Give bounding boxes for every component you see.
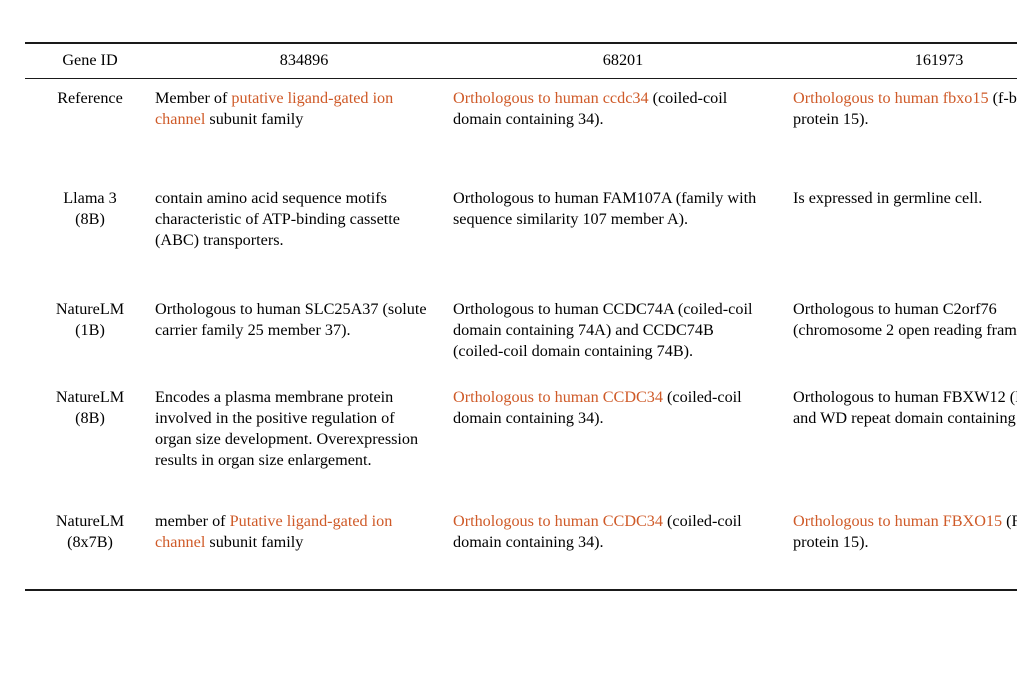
plain-text: Orthologous to human SLC25A37 (solute ca… (155, 300, 427, 339)
row-label-naturelm-8b: NatureLM(8B) (25, 378, 155, 502)
row-label-naturelm-8x7b: NatureLM(8x7B) (25, 502, 155, 589)
table-row: NatureLM(8B)Encodes a plasma membrane pr… (25, 378, 1017, 502)
plain-text: Is expressed in germline cell. (793, 189, 982, 207)
table-body: ReferenceMember of putative ligand-gated… (25, 79, 1017, 589)
table-bottom-rule (25, 589, 1017, 591)
cell-naturelm-1b-gene-2: Orthologous to human CCDC74A (coiled-coi… (453, 290, 793, 378)
cell-naturelm-8b-gene-2: Orthologous to human CCDC34 (coiled-coil… (453, 378, 793, 502)
plain-text: subunit family (205, 533, 303, 551)
plain-text: member of (155, 512, 230, 530)
gene-description-table: Gene ID 834896 68201 161973 ReferenceMem… (25, 42, 1017, 591)
plain-text: Orthologous to human FBXW12 (F-box and W… (793, 388, 1017, 427)
page-root: Gene ID 834896 68201 161973 ReferenceMem… (0, 0, 1017, 683)
row-label-secondary: (8B) (25, 408, 155, 429)
row-label-reference: Reference (25, 79, 155, 179)
row-label-primary: Reference (25, 88, 155, 109)
row-label-secondary: (8B) (25, 209, 155, 230)
column-header-gene-1: 834896 (155, 44, 453, 78)
table-row: NatureLM(1B)Orthologous to human SLC25A3… (25, 290, 1017, 378)
cell-naturelm-8x7b-gene-2: Orthologous to human CCDC34 (coiled-coil… (453, 502, 793, 589)
cell-reference-gene-2: Orthologous to human ccdc34 (coiled-coil… (453, 79, 793, 179)
comparison-table: Gene ID 834896 68201 161973 (25, 44, 1017, 78)
row-label-secondary: (1B) (25, 320, 155, 341)
row-label-naturelm-1b: NatureLM(1B) (25, 290, 155, 378)
column-header-gene-id: Gene ID (25, 44, 155, 78)
row-label-secondary: (8x7B) (25, 532, 155, 553)
row-label-primary: NatureLM (25, 299, 155, 320)
highlighted-text: Orthologous to human ccdc34 (453, 89, 649, 107)
table-row: NatureLM(8x7B)member of Putative ligand-… (25, 502, 1017, 589)
column-header-gene-3: 161973 (793, 44, 1017, 78)
plain-text: subunit family (205, 110, 303, 128)
highlighted-text: Orthologous to human fbxo15 (793, 89, 989, 107)
plain-text: Member of (155, 89, 231, 107)
table-row: Llama 3(8B)contain amino acid sequence m… (25, 179, 1017, 290)
cell-llama3-8b-gene-2: Orthologous to human FAM107A (family wit… (453, 179, 793, 290)
highlighted-text: Orthologous to human CCDC34 (453, 512, 663, 530)
cell-naturelm-8b-gene-3: Orthologous to human FBXW12 (F-box and W… (793, 378, 1017, 502)
plain-text: Encodes a plasma membrane protein involv… (155, 388, 418, 469)
plain-text: Orthologous to human CCDC74A (coiled-coi… (453, 300, 752, 360)
header-row: Gene ID 834896 68201 161973 (25, 44, 1017, 78)
cell-naturelm-1b-gene-3: Orthologous to human C2orf76 (chromosome… (793, 290, 1017, 378)
comparison-table-body: ReferenceMember of putative ligand-gated… (25, 79, 1017, 589)
cell-naturelm-8b-gene-1: Encodes a plasma membrane protein involv… (155, 378, 453, 502)
highlighted-text: Orthologous to human CCDC34 (453, 388, 663, 406)
plain-text: Orthologous to human FAM107A (family wit… (453, 189, 756, 228)
cell-naturelm-8x7b-gene-1: member of Putative ligand-gated ion chan… (155, 502, 453, 589)
plain-text: Orthologous to human C2orf76 (chromosome… (793, 300, 1017, 339)
row-label-primary: NatureLM (25, 387, 155, 408)
table-head: Gene ID 834896 68201 161973 (25, 44, 1017, 78)
cell-llama3-8b-gene-3: Is expressed in germline cell. (793, 179, 1017, 290)
cell-reference-gene-1: Member of putative ligand-gated ion chan… (155, 79, 453, 179)
plain-text: contain amino acid sequence motifs chara… (155, 189, 400, 249)
cell-naturelm-1b-gene-1: Orthologous to human SLC25A37 (solute ca… (155, 290, 453, 378)
row-label-llama3-8b: Llama 3(8B) (25, 179, 155, 290)
cell-reference-gene-3: Orthologous to human fbxo15 (f-box prote… (793, 79, 1017, 179)
row-label-primary: NatureLM (25, 511, 155, 532)
column-header-gene-2: 68201 (453, 44, 793, 78)
row-label-primary: Llama 3 (25, 188, 155, 209)
table-row: ReferenceMember of putative ligand-gated… (25, 79, 1017, 179)
cell-llama3-8b-gene-1: contain amino acid sequence motifs chara… (155, 179, 453, 290)
cell-naturelm-8x7b-gene-3: Orthologous to human FBXO15 (F-box prote… (793, 502, 1017, 589)
highlighted-text: Orthologous to human FBXO15 (793, 512, 1002, 530)
